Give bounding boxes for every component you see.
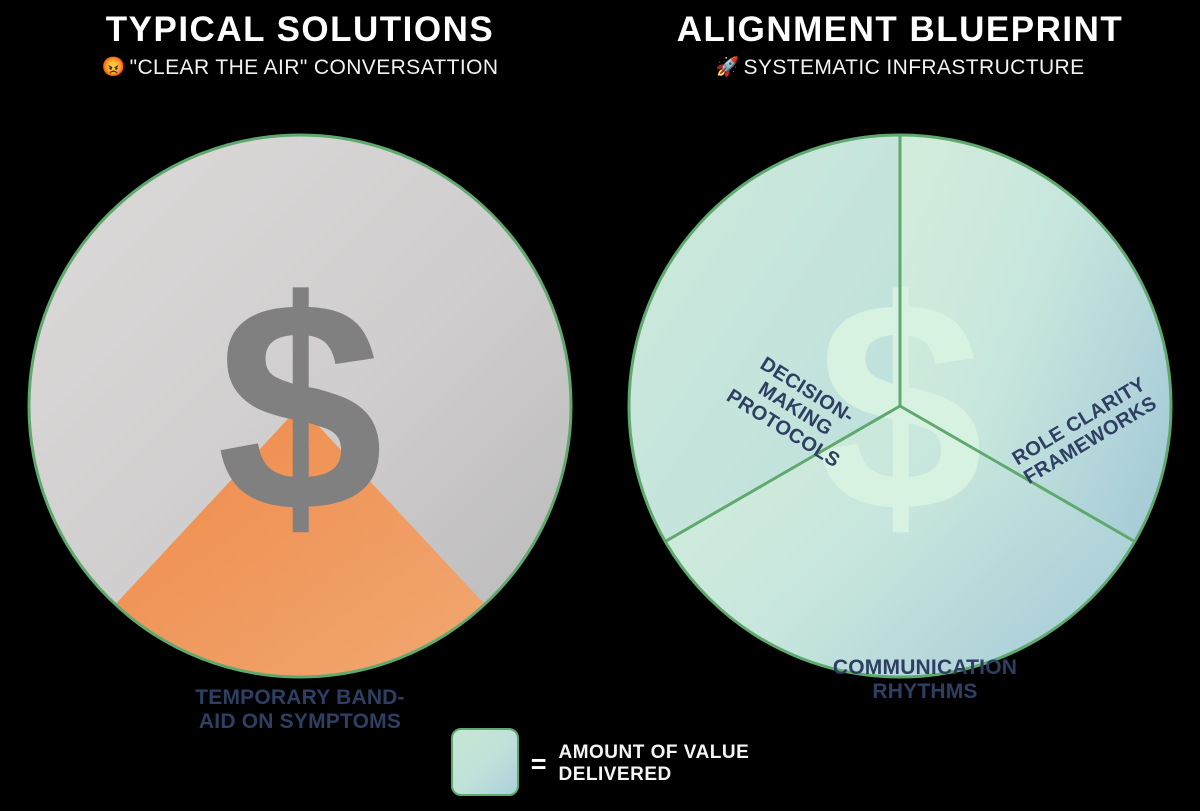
panel-subtitle-left: 😡 "CLEAR THE AIR" CONVERSATTION — [0, 57, 600, 78]
panel-subtitle-text-left: "CLEAR THE AIR" CONVERSATTION — [130, 57, 499, 78]
pie-chart-typical-solutions: $ TEMPORARY BAND- AID ON SYMPTOMS — [25, 131, 575, 681]
pie-label-temporary-bandaid: TEMPORARY BAND- AID ON SYMPTOMS — [140, 686, 460, 733]
angry-face-emoji: 😡 — [102, 58, 126, 77]
panel-alignment-blueprint: ALIGNMENT BLUEPRINT 🚀 SYSTEMATIC INFRAST… — [600, 0, 1200, 811]
pie-label-communication-rhythms: COMMUNICATION RHYTHMS — [780, 656, 1070, 703]
panel-header-left: TYPICAL SOLUTIONS 😡 "CLEAR THE AIR" CONV… — [0, 12, 600, 78]
legend-color-swatch — [451, 728, 519, 796]
legend-equals-sign: = — [531, 751, 547, 778]
panel-typical-solutions: TYPICAL SOLUTIONS 😡 "CLEAR THE AIR" CONV… — [0, 0, 600, 811]
panel-subtitle-right: 🚀 SYSTEMATIC INFRASTRUCTURE — [600, 57, 1200, 78]
panel-subtitle-text-right: SYSTEMATIC INFRASTRUCTURE — [744, 57, 1085, 78]
dollar-sign-icon: $ — [217, 238, 384, 574]
page-title-alignment-blueprint: ALIGNMENT BLUEPRINT — [600, 12, 1200, 47]
pie-chart-alignment-blueprint: $ DECISION- MAKING PROTOCOLS ROLE CLARIT… — [625, 131, 1175, 681]
page-title-typical-solutions: TYPICAL SOLUTIONS — [0, 12, 600, 47]
legend: = AMOUNT OF VALUE DELIVERED — [0, 728, 1200, 796]
panel-header-right: ALIGNMENT BLUEPRINT 🚀 SYSTEMATIC INFRAST… — [600, 12, 1200, 78]
rocket-emoji: 🚀 — [715, 58, 739, 77]
pie-svg-left: $ — [25, 131, 575, 681]
legend-label: AMOUNT OF VALUE DELIVERED — [558, 742, 749, 787]
